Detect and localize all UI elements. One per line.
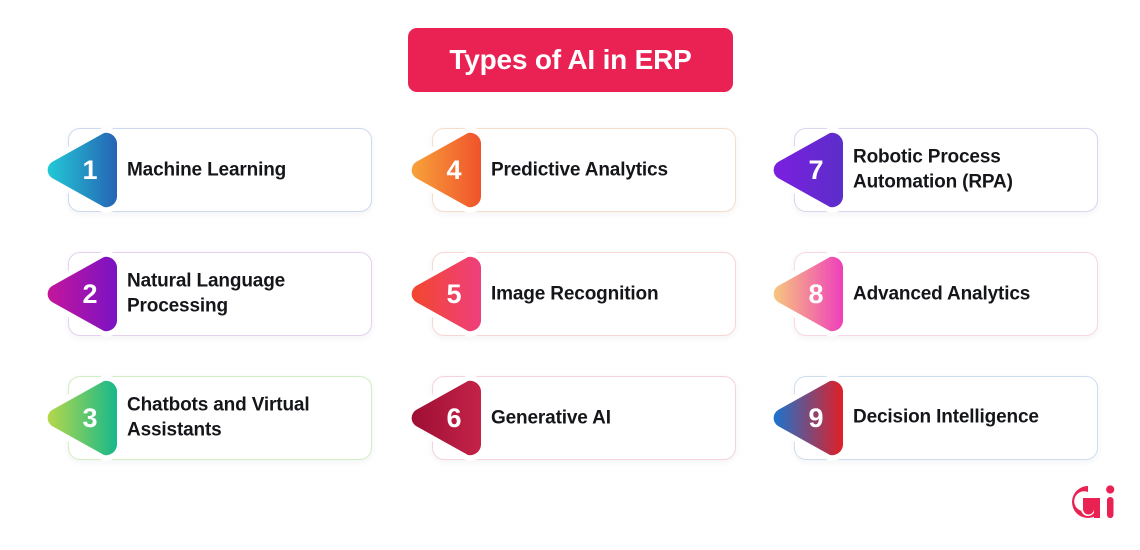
card-number-badge: 6 [407, 375, 485, 461]
card-item[interactable]: 8Advanced Analytics [794, 252, 1098, 336]
card-item[interactable]: 6Generative AI [432, 376, 736, 460]
types-of-ai-grid: 1Machine Learning2Natural Language Proce… [0, 0, 1140, 550]
card-number-badge: 3 [43, 375, 121, 461]
card-label: Predictive Analytics [491, 157, 723, 182]
card-number-badge: 7 [769, 127, 847, 213]
card-item[interactable]: 7Robotic Process Automation (RPA) [794, 128, 1098, 212]
logo-mark [1072, 485, 1114, 518]
card-item[interactable]: 3Chatbots and Virtual Assistants [68, 376, 372, 460]
card-label: Machine Learning [127, 157, 359, 182]
card-number-badge: 1 [43, 127, 121, 213]
card-number-badge: 9 [769, 375, 847, 461]
card-label: Chatbots and Virtual Assistants [127, 393, 359, 442]
card-label: Advanced Analytics [853, 281, 1085, 306]
card-item[interactable]: 5Image Recognition [432, 252, 736, 336]
card-label: Generative AI [491, 405, 723, 430]
card-number-badge: 5 [407, 251, 485, 337]
card-label: Natural Language Processing [127, 269, 359, 318]
card-number-badge: 2 [43, 251, 121, 337]
card-item[interactable]: 4Predictive Analytics [432, 128, 736, 212]
card-label: Robotic Process Automation (RPA) [853, 145, 1085, 194]
cui-logo [1055, 480, 1117, 524]
card-number-badge: 4 [407, 127, 485, 213]
card-item[interactable]: 2Natural Language Processing [68, 252, 372, 336]
card-number-badge: 8 [769, 251, 847, 337]
card-label: Decision Intelligence [853, 406, 1085, 431]
card-label: Image Recognition [491, 281, 723, 306]
card-item[interactable]: 9Decision Intelligence [794, 376, 1098, 460]
card-item[interactable]: 1Machine Learning [68, 128, 372, 212]
